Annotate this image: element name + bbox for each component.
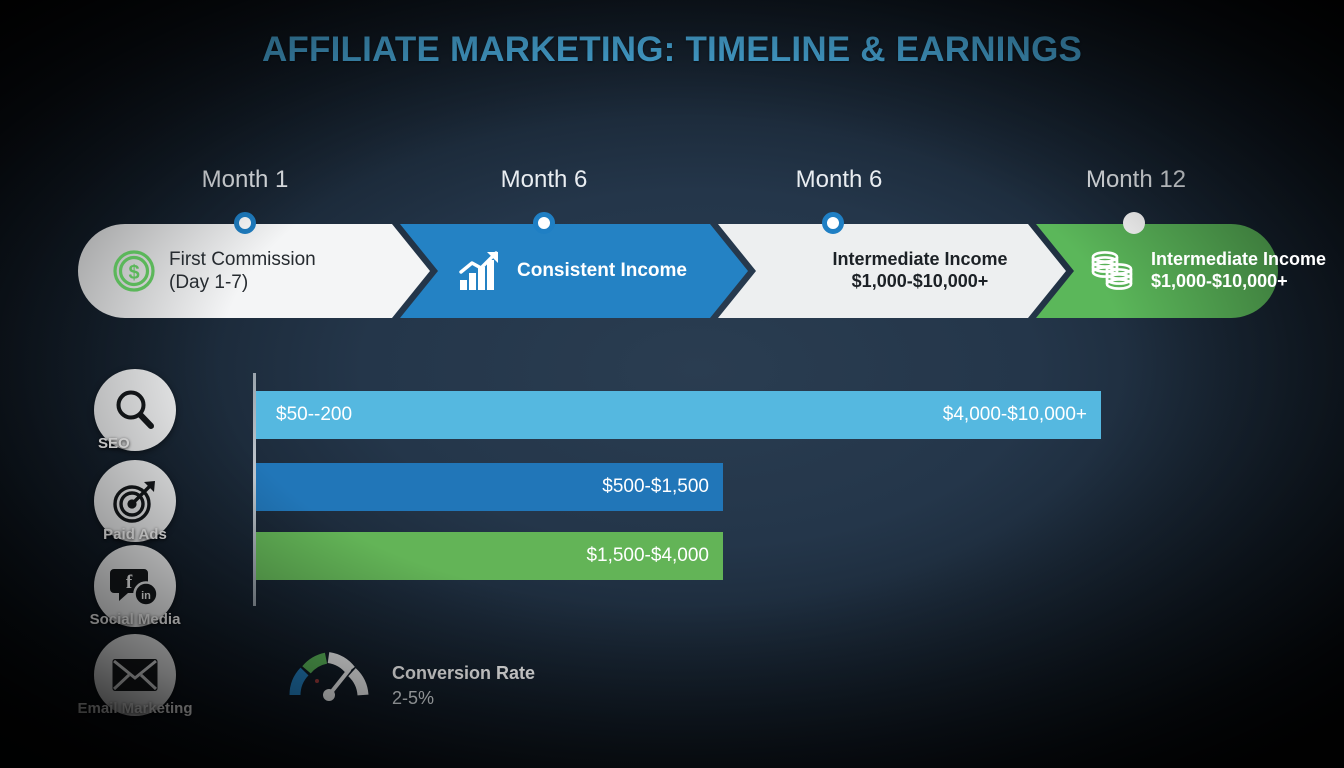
conversion-rate-value: 2-5%: [392, 688, 535, 709]
channel-social-media[interactable]: f in Social Media: [94, 545, 176, 627]
timeline-segment-4[interactable]: Intermediate Income $1,000-$10,000+: [1036, 224, 1278, 318]
page-title: AFFILIATE MARKETING: TIMELINE & EARNINGS: [0, 30, 1344, 70]
timeline-segment-3[interactable]: Intermediate Income $1,000-$10,000+: [718, 224, 1066, 318]
channel-paid-ads-label: Paid Ads: [103, 526, 167, 543]
segment-2-text: Consistent Income: [517, 259, 687, 282]
svg-text:$: $: [128, 262, 139, 284]
conversion-rate-title: Conversion Rate: [392, 663, 535, 684]
gauge-icon: [286, 645, 372, 701]
bar-seo-label-low: $50--200: [276, 404, 352, 426]
segment-4-line1: Intermediate Income: [1151, 249, 1326, 271]
bar-paid-ads-label: $500-$1,500: [602, 476, 709, 498]
segment-2-line1: Consistent Income: [517, 259, 687, 282]
timeline-segment-2[interactable]: Consistent Income: [400, 224, 748, 318]
segment-1-text: First Commission (Day 1-7): [169, 248, 316, 294]
bar-seo-label-high: $4,000-$10,000+: [943, 404, 1087, 426]
channel-paid-ads[interactable]: Paid Ads: [94, 460, 176, 542]
growth-chart-icon: [458, 250, 504, 292]
segment-3-line2: $1,000-$10,000+: [832, 271, 1007, 293]
coin-stack-icon: [1088, 249, 1138, 293]
svg-text:in: in: [141, 590, 151, 602]
segment-3-text: Intermediate Income $1,000-$10,000+: [832, 249, 1007, 293]
segment-1-line2: (Day 1-7): [169, 271, 316, 294]
dollar-coin-icon: $: [112, 249, 156, 293]
bar-seo[interactable]: $50--200 $4,000-$10,000+: [256, 391, 1101, 439]
bar-paid-ads[interactable]: $500-$1,500: [256, 463, 723, 511]
channel-social-media-label: Social Media: [90, 611, 181, 628]
bar-social-media[interactable]: $1,500-$4,000: [256, 532, 723, 580]
channel-seo-label: SEO: [98, 435, 130, 452]
bar-social-media-label: $1,500-$4,000: [586, 545, 709, 567]
channel-email-marketing-label: Email Marketing: [77, 700, 192, 717]
segment-4-line2: $1,000-$10,000+: [1151, 271, 1326, 293]
infographic-canvas: AFFILIATE MARKETING: TIMELINE & EARNINGS…: [0, 0, 1344, 768]
channel-email-marketing[interactable]: Email Marketing: [94, 634, 176, 716]
channel-seo[interactable]: SEO: [94, 369, 176, 451]
svg-text:f: f: [126, 572, 133, 593]
timeline-segment-1[interactable]: $ First Commission (Day 1-7): [78, 224, 430, 318]
segment-3-line1: Intermediate Income: [832, 249, 1007, 271]
milestone-label-2: Month 6: [501, 166, 588, 194]
timeline: $ First Commission (Day 1-7): [78, 224, 1278, 318]
conversion-rate-block: Conversion Rate 2-5%: [392, 663, 535, 709]
milestone-label-3: Month 6: [796, 166, 883, 194]
earnings-bar-chart: $50--200 $4,000-$10,000+ $500-$1,500 $1,…: [253, 373, 1113, 606]
segment-1-line1: First Commission: [169, 248, 316, 271]
segment-4-text: Intermediate Income $1,000-$10,000+: [1151, 249, 1326, 293]
milestone-label-1: Month 1: [202, 166, 289, 194]
milestone-label-4: Month 12: [1086, 166, 1186, 194]
